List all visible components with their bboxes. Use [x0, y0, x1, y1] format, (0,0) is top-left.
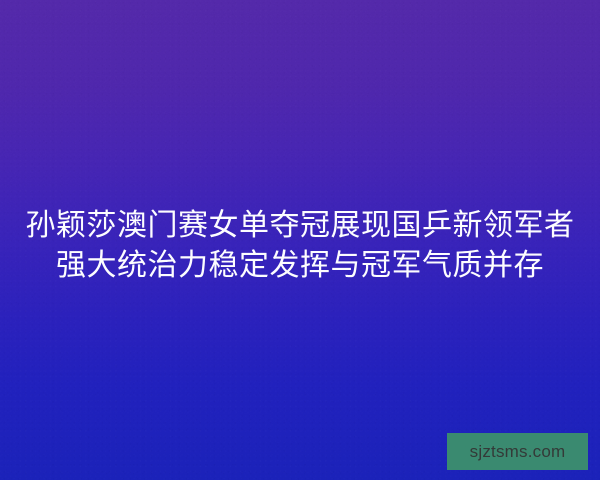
headline-line-1: 孙颖莎澳门赛女单夺冠展现国乒新领军者	[0, 206, 600, 246]
watermark-label: sjztsms.com	[470, 443, 566, 460]
headline-line-2: 强大统治力稳定发挥与冠军气质并存	[0, 246, 600, 286]
headline-text: 孙颖莎澳门赛女单夺冠展现国乒新领军者 强大统治力稳定发挥与冠军气质并存	[0, 206, 600, 286]
watermark-badge: sjztsms.com	[447, 433, 588, 470]
title-card: 孙颖莎澳门赛女单夺冠展现国乒新领军者 强大统治力稳定发挥与冠军气质并存 sjzt…	[0, 0, 600, 480]
